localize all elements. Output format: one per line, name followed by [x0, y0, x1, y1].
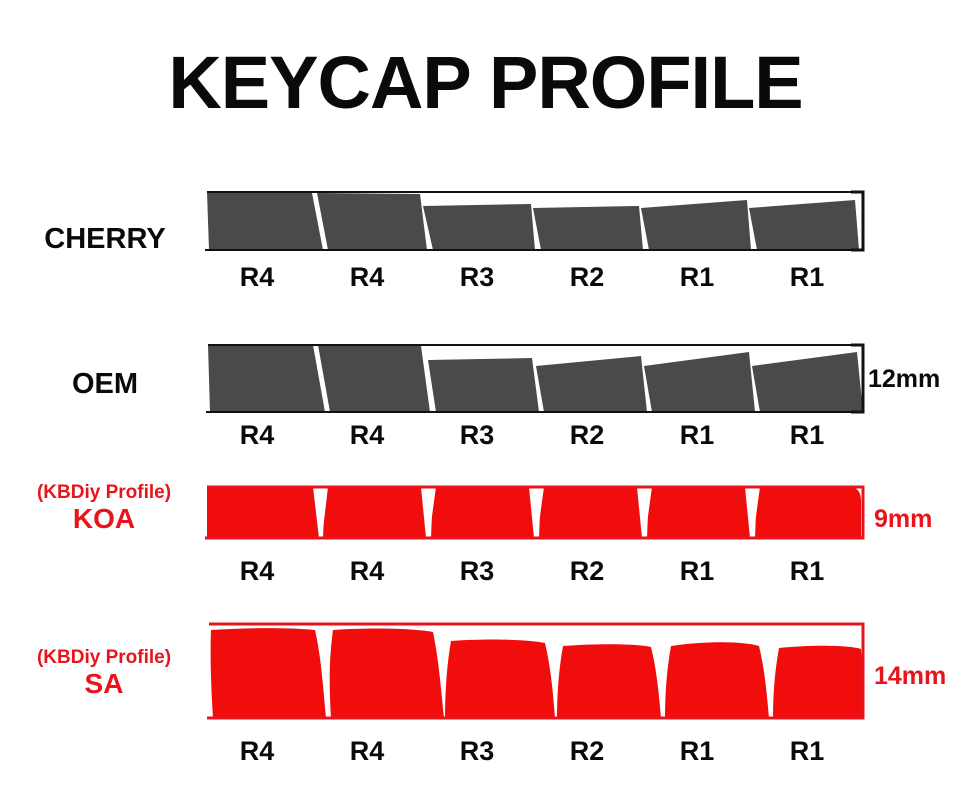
keycap-shapes-koa — [195, 482, 875, 546]
keycap-shapes-cherry — [195, 186, 875, 258]
row-labels-cherry: R4 R4 R3 R2 R1 R1 — [202, 262, 862, 293]
row-label: R1 — [752, 262, 862, 293]
height-label-sa: 14mm — [874, 662, 946, 691]
row-label: R4 — [312, 420, 422, 451]
row-label: R3 — [422, 420, 532, 451]
profile-label-oem: OEM — [14, 369, 196, 401]
profile-name-sa: SA — [4, 669, 204, 700]
keycap-profile-diagram: KEYCAP PROFILE CHERRY R4 R4 R3 R2 R1 R1 … — [0, 0, 971, 800]
keycap-shapes-sa — [195, 616, 875, 728]
profile-label-sa: (KBDiy Profile) SA — [4, 648, 204, 700]
row-label: R2 — [532, 262, 642, 293]
row-label: R1 — [642, 262, 752, 293]
row-label: R4 — [312, 556, 422, 587]
profile-name-cherry: CHERRY — [14, 224, 196, 256]
row-labels-oem: R4 R4 R3 R2 R1 R1 — [202, 420, 862, 451]
height-label-koa: 9mm — [874, 505, 932, 534]
page-title: KEYCAP PROFILE — [0, 46, 971, 120]
profile-name-oem: OEM — [14, 369, 196, 401]
row-label: R2 — [532, 420, 642, 451]
profile-sublabel-koa: (KBDiy Profile) — [4, 483, 204, 504]
row-label: R4 — [202, 736, 312, 767]
row-label: R1 — [642, 736, 752, 767]
row-label: R1 — [642, 556, 752, 587]
row-label: R3 — [422, 556, 532, 587]
profile-label-cherry: CHERRY — [14, 224, 196, 256]
profile-sublabel-sa: (KBDiy Profile) — [4, 648, 204, 669]
row-label: R2 — [532, 556, 642, 587]
row-label: R4 — [312, 262, 422, 293]
profile-label-koa: (KBDiy Profile) KOA — [4, 483, 204, 535]
row-label: R1 — [752, 420, 862, 451]
row-label: R4 — [202, 556, 312, 587]
row-label: R4 — [312, 736, 422, 767]
row-label: R1 — [752, 556, 862, 587]
row-label: R1 — [752, 736, 862, 767]
profile-name-koa: KOA — [4, 504, 204, 535]
row-label: R1 — [642, 420, 752, 451]
keycap-shapes-oem — [195, 336, 875, 420]
row-label: R2 — [532, 736, 642, 767]
row-label: R3 — [422, 262, 532, 293]
height-label-oem: 12mm — [868, 365, 940, 394]
row-labels-koa: R4 R4 R3 R2 R1 R1 — [202, 556, 862, 587]
row-labels-sa: R4 R4 R3 R2 R1 R1 — [202, 736, 862, 767]
row-label: R3 — [422, 736, 532, 767]
row-label: R4 — [202, 262, 312, 293]
row-label: R4 — [202, 420, 312, 451]
